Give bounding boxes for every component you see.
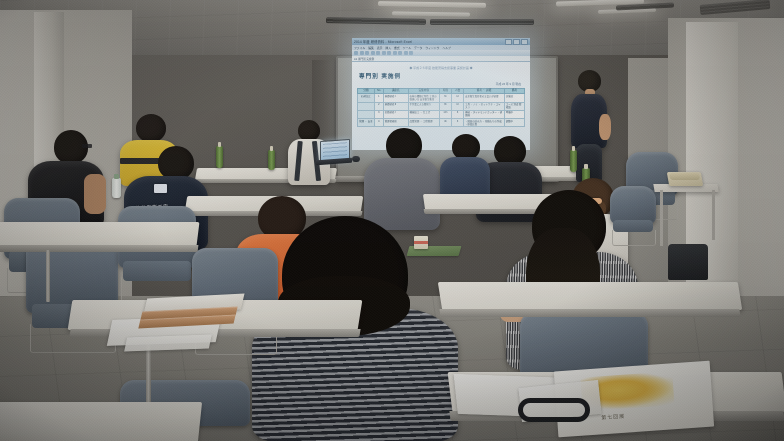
table-front-right bbox=[438, 282, 742, 310]
cell-note: 準備中 bbox=[504, 110, 524, 118]
cell-remarks: ・図面の読み方 ・見積もりの作成 ・原価計算 bbox=[464, 118, 505, 126]
formula-bar-text: A1 専門別 実施例 bbox=[354, 57, 374, 61]
cut-icon bbox=[376, 51, 380, 55]
cell-content: 手作業による粗削り bbox=[408, 102, 439, 110]
seminar-room-photo: 2014 年度 研修資料 - Microsoft Excel ファイル 編集 表… bbox=[0, 0, 784, 441]
floor-bag bbox=[668, 244, 708, 280]
menu-insert: 挿入 bbox=[385, 46, 391, 50]
projected-app-title: 2014 年度 研修資料 - Microsoft Excel bbox=[354, 39, 412, 44]
table-row: 石材加工 1 基礎研修 Ⅰ 石材の種類と特性 工具の取扱い方 安全衛生教育 6h… bbox=[358, 94, 525, 102]
side-table-leg-2 bbox=[712, 190, 715, 240]
projected-data-table: 分類 No 講座名 実施内容 時間 人数 備考 ・ 詳細 備考 石材加工 1 基 bbox=[357, 88, 525, 128]
cell-people: 10 bbox=[451, 102, 463, 110]
chair-legs bbox=[612, 230, 656, 246]
cell-course: 実践研修 Ⅰ bbox=[383, 110, 408, 118]
table-row: 2 基礎研修 Ⅱ 手作業による粗削り 8h 10 工具 ・ノミ ・セットウチ ・… bbox=[358, 102, 525, 110]
cell-note: コース 別途 要相談 bbox=[504, 102, 524, 110]
side-table-leg-1 bbox=[660, 190, 663, 246]
slide-sub-line: 平成 26 年 9 月 現在 bbox=[357, 82, 521, 86]
sample-box-stack bbox=[140, 296, 244, 332]
menu-edit: 編集 bbox=[368, 46, 374, 50]
slide-title: 専門別 実施例 bbox=[359, 72, 525, 80]
cell-content: 機械加工 ・ 仕上げ bbox=[408, 110, 439, 118]
open-icon bbox=[360, 51, 364, 55]
cell-course: 管理者研修 bbox=[383, 118, 408, 126]
cell-people: 6 bbox=[451, 118, 463, 126]
gray-shirt-head bbox=[386, 128, 422, 162]
booklet-logo-text: 第七回展 bbox=[601, 413, 625, 422]
chart-icon bbox=[404, 51, 408, 55]
yellow-head bbox=[136, 114, 166, 142]
menu-view: 表示 bbox=[377, 46, 383, 50]
tea-bottle-2 bbox=[268, 150, 275, 170]
cell-hours: 10h bbox=[439, 110, 451, 118]
ceiling-vent-right bbox=[430, 19, 534, 25]
menu-window: ウィンドウ bbox=[425, 46, 439, 50]
table-bottom-left bbox=[0, 402, 202, 441]
projected-app-titlebar: 2014 年度 研修資料 - Microsoft Excel bbox=[352, 38, 530, 45]
cell-hours: 8h bbox=[439, 102, 451, 110]
cell-remarks: 機械 ・ダイヤモンドカッター ・研磨機 bbox=[464, 110, 505, 118]
menu-tools: ツール bbox=[403, 46, 411, 50]
cell-content: 石材の種類と特性 工具の取扱い方 安全衛生教育 bbox=[408, 94, 439, 102]
tea-bottle-1 bbox=[216, 146, 223, 168]
table-front-left bbox=[0, 222, 199, 246]
water-bottle-left bbox=[112, 178, 121, 198]
minimize-icon bbox=[505, 39, 512, 45]
bottle-cap bbox=[218, 142, 222, 147]
cell-remarks: 工具 ・ノミ ・セットウチ ・コヤスリ bbox=[464, 102, 505, 110]
maximize-icon bbox=[513, 39, 520, 45]
close-icon bbox=[521, 39, 528, 45]
cell-note: 調整中 bbox=[504, 118, 524, 126]
laptop-mouse bbox=[352, 156, 360, 162]
cell-no: 4 bbox=[374, 118, 383, 126]
cell-category: 石材加工 bbox=[358, 94, 375, 102]
black-tee-glasses-icon bbox=[82, 144, 92, 148]
operator-head bbox=[298, 120, 320, 141]
cell-no: 3 bbox=[374, 110, 383, 118]
workwear-head bbox=[158, 146, 194, 180]
slide-header-line: ◆ 平成２６年度 技能習得支援事業 実施計画 ◆ bbox=[357, 66, 525, 70]
cell-no: 1 bbox=[374, 94, 383, 102]
cell-category bbox=[358, 102, 375, 110]
cell-hours: 6h bbox=[439, 94, 451, 102]
zoom-icon bbox=[409, 51, 413, 55]
table-row: 3 実践研修 Ⅰ 機械加工 ・ 仕上げ 10h 8 機械 ・ダイヤモンドカッター… bbox=[358, 110, 525, 118]
bottle-cap bbox=[114, 174, 119, 179]
print-icon bbox=[371, 51, 375, 55]
save-icon bbox=[365, 51, 369, 55]
menu-file: ファイル bbox=[354, 46, 365, 50]
chair-empty-left-3[interactable] bbox=[118, 206, 196, 300]
table-row: 管理 ・ 安全 4 管理者研修 品質管理 ・ 工程管理 4h 6 ・図面の読み方… bbox=[358, 118, 525, 126]
tea-bottle-3 bbox=[570, 150, 577, 172]
cell-no: 2 bbox=[374, 102, 383, 110]
menu-format: 書式 bbox=[394, 46, 400, 50]
black-bag-strap bbox=[518, 398, 590, 422]
undo-icon bbox=[393, 51, 397, 55]
window-buttons bbox=[505, 39, 528, 45]
menu-data: データ bbox=[414, 46, 422, 50]
desk-telephone[interactable] bbox=[667, 172, 703, 186]
cell-category bbox=[358, 110, 375, 118]
presenter-arm bbox=[599, 114, 611, 140]
table-front-right-edge bbox=[439, 309, 740, 317]
workwear-collar-badge bbox=[154, 184, 167, 193]
cell-note: 実施済 bbox=[504, 94, 524, 102]
table-front-left-edge bbox=[0, 245, 198, 252]
table-front-left-leg bbox=[46, 250, 50, 302]
cell-category: 管理 ・ 安全 bbox=[358, 118, 375, 126]
bottle-cap bbox=[270, 146, 274, 151]
cell-hours: 4h bbox=[439, 118, 451, 126]
copy-icon bbox=[382, 51, 386, 55]
paste-icon bbox=[387, 51, 391, 55]
menu-help: ヘルプ bbox=[442, 46, 450, 50]
bottle-cap bbox=[584, 164, 588, 169]
telephone-handset[interactable] bbox=[669, 173, 700, 180]
cell-people: 12 bbox=[451, 94, 463, 102]
new-icon bbox=[354, 51, 358, 55]
black-tee-arm bbox=[84, 174, 106, 214]
sort-icon bbox=[398, 51, 402, 55]
cell-content: 品質管理 ・ 工程管理 bbox=[408, 118, 439, 126]
bottle-cap bbox=[572, 146, 576, 151]
cell-course: 基礎研修 Ⅱ bbox=[383, 102, 408, 110]
cell-people: 8 bbox=[451, 110, 463, 118]
cell-course: 基礎研修 Ⅰ bbox=[383, 94, 408, 102]
chair-back bbox=[610, 186, 656, 224]
chair-nook-right[interactable] bbox=[610, 186, 656, 244]
cell-remarks: 安全衛生責任者の立会いが必要 bbox=[464, 94, 505, 102]
